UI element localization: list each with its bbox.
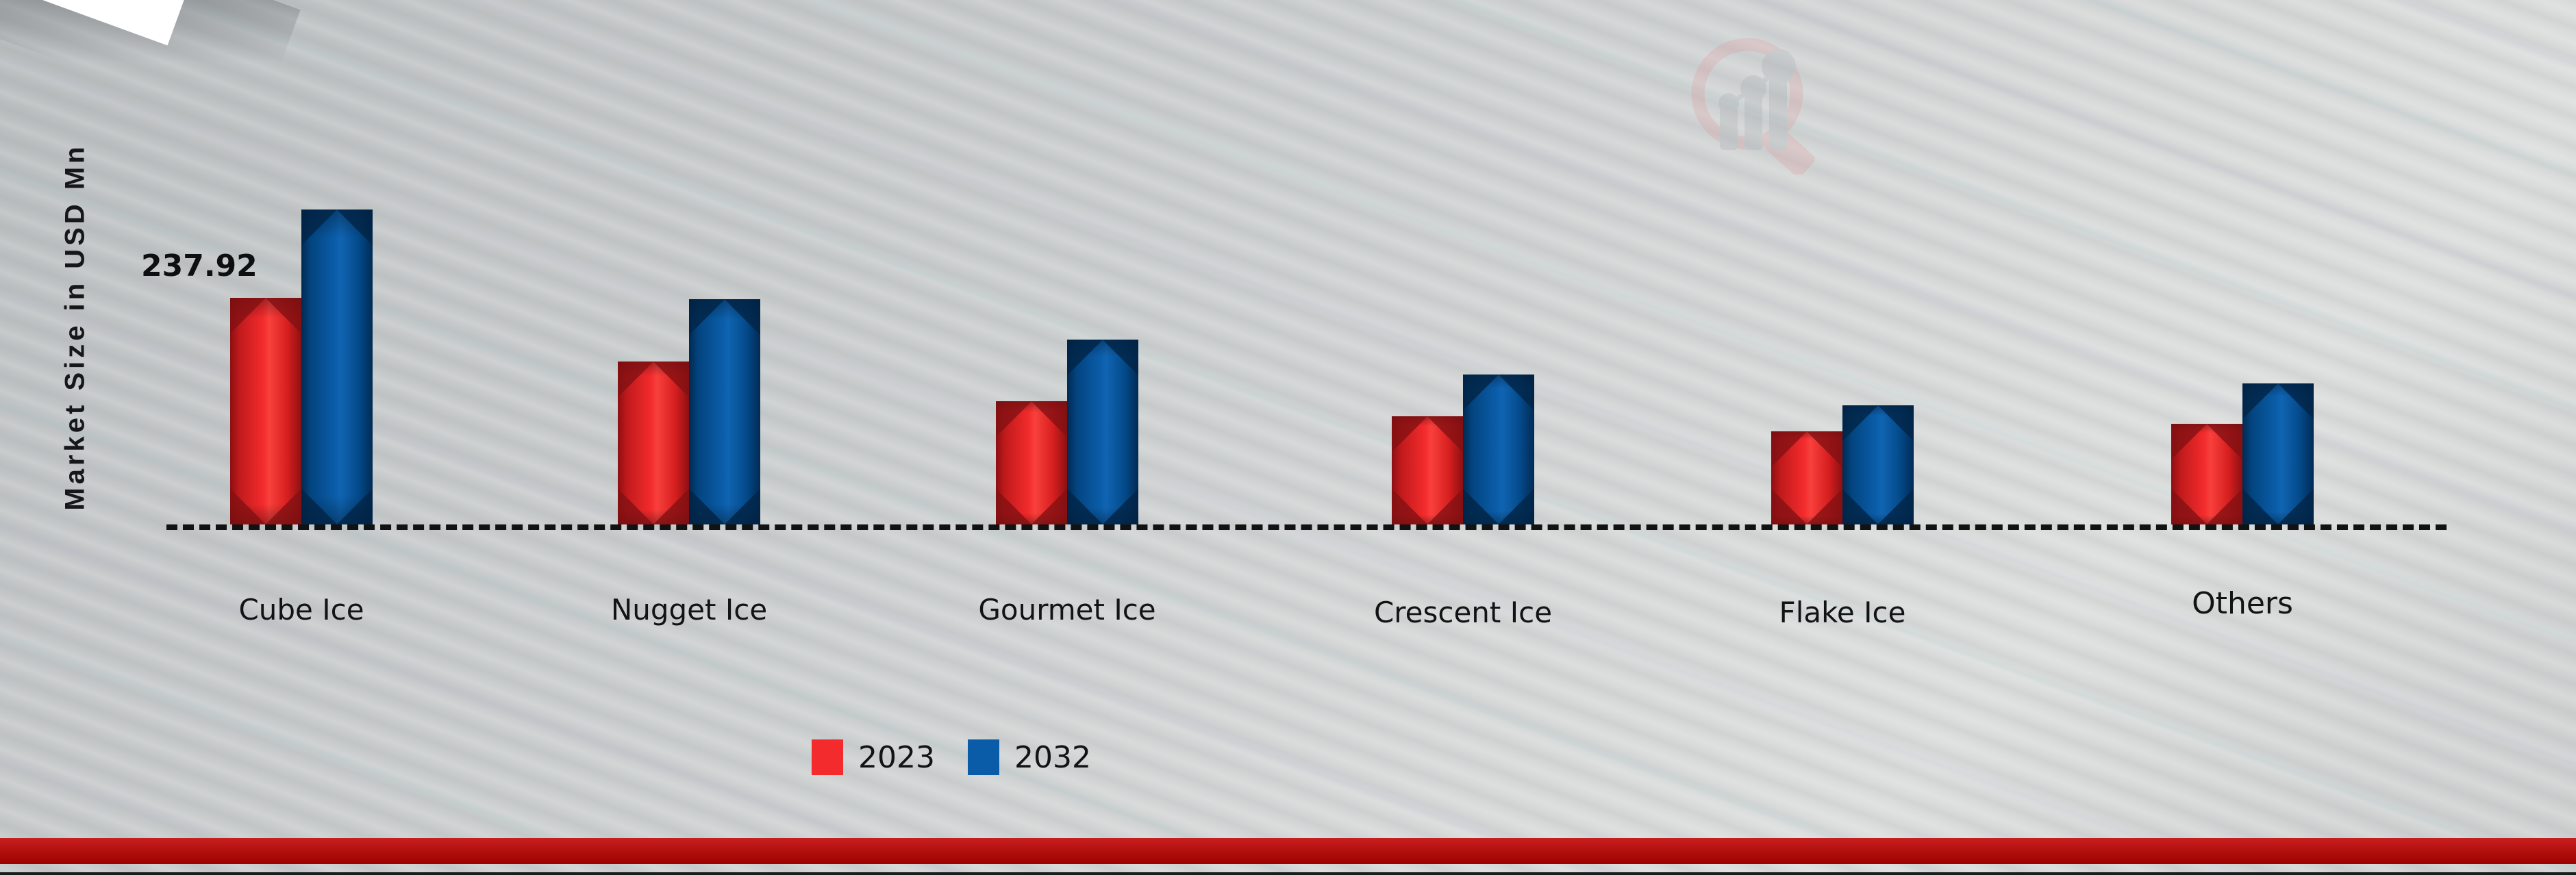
bar-2023-nugget-ice[interactable] [618,362,689,524]
category-label-cube-ice: Cube Ice [238,593,364,626]
bar-2032-cube-ice[interactable] [301,210,373,524]
legend-item-2023[interactable]: 2023 [812,739,935,775]
bar-2032-crescent-ice[interactable] [1463,375,1534,524]
bar-2032-flake-ice[interactable] [1842,405,1914,524]
legend-label-2023: 2023 [858,740,935,775]
category-label-flake-ice: Flake Ice [1779,596,1906,629]
bottom-red-band-shading [0,838,2576,864]
baseline-axis [166,524,2447,530]
bar-2023-others[interactable] [2171,424,2242,524]
plot-area: Cube IceNugget IceGourmet IceCrescent Ic… [0,0,2576,875]
bar-2032-others[interactable] [2242,383,2314,524]
bar-2032-nugget-ice[interactable] [689,299,760,524]
bottom-edge-line [0,872,2576,875]
bar-2023-flake-ice[interactable] [1771,431,1842,524]
chart-canvas: Market Size in USD Mn Cube IceNugget Ice… [0,0,2576,875]
bar-2023-gourmet-ice[interactable] [996,401,1067,524]
chart-legend: 20232032 [812,739,1091,775]
legend-swatch-2023 [812,739,843,775]
legend-swatch-2032 [968,739,999,775]
bar-2023-cube-ice[interactable] [230,298,301,524]
bar-2023-crescent-ice[interactable] [1392,416,1463,524]
category-label-gourmet-ice: Gourmet Ice [978,593,1155,626]
legend-label-2032: 2032 [1014,740,1091,775]
category-label-nugget-ice: Nugget Ice [611,593,767,626]
data-label-cube-ice: 237.92 [141,249,258,283]
category-label-others: Others [2192,586,2293,621]
bar-2032-gourmet-ice[interactable] [1067,340,1138,524]
legend-item-2032[interactable]: 2032 [968,739,1091,775]
category-label-crescent-ice: Crescent Ice [1374,596,1552,629]
